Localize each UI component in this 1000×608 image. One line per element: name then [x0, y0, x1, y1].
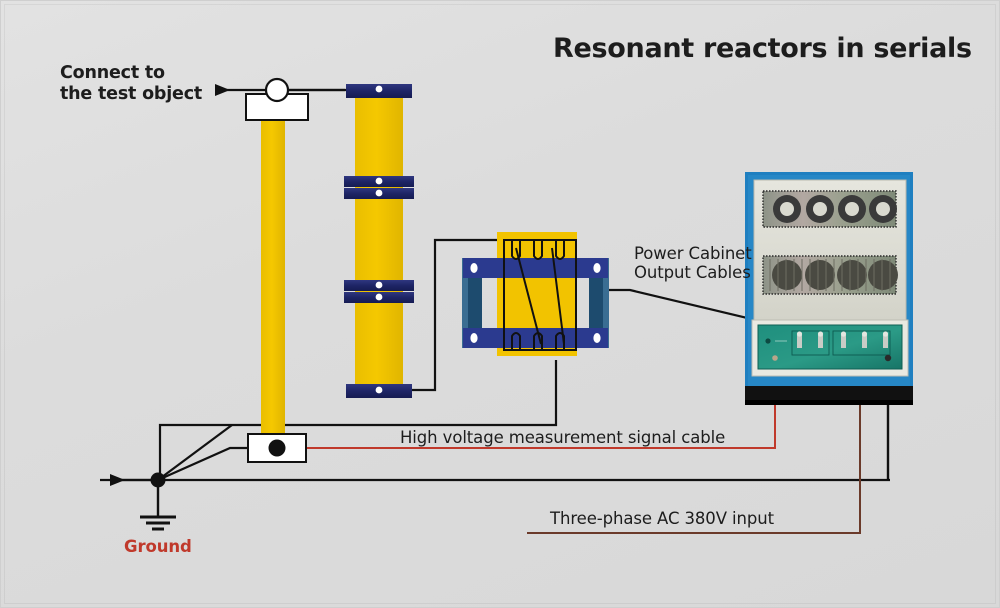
column-flange-top: [346, 84, 412, 98]
page-title: Resonant reactors in serials: [553, 33, 972, 65]
reactor-insulator-column: [344, 84, 414, 398]
diagram-canvas: Resonant reactors in serials Connect to …: [0, 0, 1000, 608]
reactor-band-bottom: [463, 328, 608, 348]
label-connect-to-test-object: Connect to the test object: [60, 63, 202, 104]
wire-ground-branch-to-divider-base: [158, 448, 250, 480]
label-ground: Ground: [124, 537, 192, 556]
label-three-phase-ac-input: Three-phase AC 380V input: [550, 509, 774, 528]
label-hv-measurement-signal-cable: High voltage measurement signal cable: [400, 428, 725, 447]
fan-grille-bottom: [763, 256, 898, 294]
label-power-cabinet-output-cables: Power Cabinet Output Cables: [634, 244, 752, 283]
column-flange-bottom: [346, 384, 412, 398]
power-cabinet: [745, 172, 913, 405]
fan-grille-top: [763, 191, 897, 227]
reactor-band-top: [463, 258, 608, 278]
hv-divider: [246, 79, 308, 462]
reactor-coil-unit: [462, 232, 609, 356]
